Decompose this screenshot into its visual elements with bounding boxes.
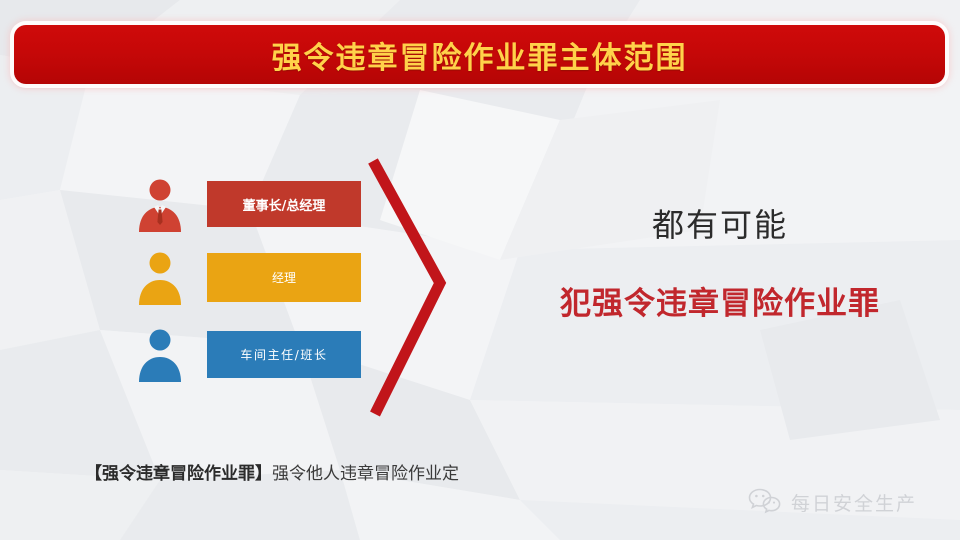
title-banner: 强令违章冒险作业罪主体范围 [14,25,945,84]
conclusion-line-2: 犯强令违章冒险作业罪 [520,278,920,323]
role-bar: 董事长/总经理 [207,181,361,227]
wechat-icon [748,487,782,517]
role-label: 车间主任/班长 [240,346,327,363]
role-row[interactable]: 车间主任/班长 [132,325,372,383]
role-bar: 经理 [207,253,361,302]
conclusion-block: 都有可能 犯强令违章冒险作业罪 [520,200,920,323]
role-row[interactable]: 董事长/总经理 [132,175,372,233]
role-label: 董事长/总经理 [243,195,326,214]
role-row[interactable]: 经理 [132,248,372,306]
caption-rest: 强令他人违章冒险作业定 [272,464,459,484]
slide-canvas: 强令违章冒险作业罪主体范围 董事长/总经理 经理 [0,0,960,540]
role-list: 董事长/总经理 经理 车间主任/班长 [132,175,372,390]
conclusion-line-1: 都有可能 [520,200,920,246]
page-title: 强令违章冒险作业罪主体范围 [272,33,688,77]
person-icon [132,326,188,382]
footnote-caption: 【强令违章冒险作业罪】强令他人违章冒险作业定 [85,459,459,484]
chevron-right-arrow-icon [355,155,465,420]
person-suit-icon [132,176,188,232]
role-label: 经理 [272,269,296,286]
watermark: 每日安全生产 [748,487,917,517]
role-bar: 车间主任/班长 [207,331,361,378]
watermark-label: 每日安全生产 [791,489,917,516]
person-icon [132,249,188,305]
caption-bracket-term: 【强令违章冒险作业罪】 [85,464,272,484]
